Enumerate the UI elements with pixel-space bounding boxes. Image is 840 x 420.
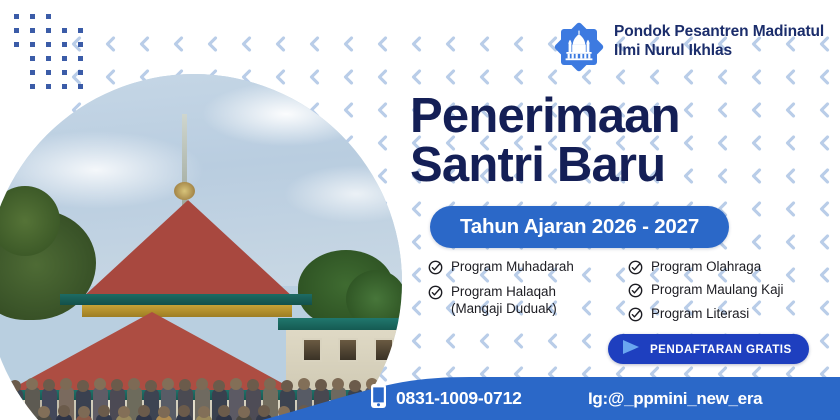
mosque-star-logo-svg bbox=[554, 22, 604, 72]
list-item: Program Halaqah (Mangaji Duduak) bbox=[428, 284, 620, 317]
list-item: Program Olahraga bbox=[628, 259, 838, 279]
program-list: Program Muhadarah Program Halaqah (Manga… bbox=[428, 259, 840, 326]
check-circle-icon bbox=[428, 285, 443, 304]
free-registration-label: PENDAFTARAN GRATIS bbox=[650, 343, 792, 356]
brand-header: Pondok Pesantren Madinatul Ilmi Nurul Ik… bbox=[554, 22, 840, 72]
instagram-handle[interactable]: Ig:@_ppmini_new_era bbox=[588, 389, 762, 409]
check-circle-icon bbox=[628, 307, 643, 326]
list-item-label: Program Literasi bbox=[651, 306, 749, 322]
page-title: Penerimaan Santri Baru bbox=[410, 92, 830, 189]
academic-year-label: Tahun Ajaran 2026 - 2027 bbox=[460, 215, 699, 239]
list-item: Program Muhadarah bbox=[428, 259, 620, 279]
check-circle-icon bbox=[628, 260, 643, 279]
program-column-left: Program Muhadarah Program Halaqah (Manga… bbox=[428, 259, 620, 326]
academic-year-badge: Tahun Ajaran 2026 - 2027 bbox=[430, 206, 729, 248]
list-item-label: Program Olahraga bbox=[651, 259, 761, 275]
program-column-right: Program Olahraga Program Maulang Kaji bbox=[628, 259, 838, 326]
list-item-label: Program Muhadarah bbox=[451, 259, 574, 275]
mosque-star-logo-icon bbox=[554, 22, 604, 72]
list-item-label: Program Halaqah (Mangaji Duduak) bbox=[451, 284, 557, 317]
play-arrow-icon bbox=[620, 338, 642, 361]
page-title-line2: Santri Baru bbox=[410, 141, 830, 190]
banner-content: Pondok Pesantren Madinatul Ilmi Nurul Ik… bbox=[408, 0, 840, 420]
list-item-label: Program Maulang Kaji bbox=[651, 282, 783, 298]
free-registration-button[interactable]: PENDAFTARAN GRATIS bbox=[608, 334, 809, 364]
list-item: Program Literasi bbox=[628, 306, 838, 326]
footer-contacts: 0831-1009-0712 Ig:@_ppmini_new_era bbox=[370, 377, 840, 420]
check-circle-icon bbox=[428, 260, 443, 279]
phone-number: 0831-1009-0712 bbox=[396, 388, 522, 409]
page-title-line1: Penerimaan bbox=[410, 92, 830, 141]
psb-promo-banner: Pondok Pesantren Madinatul Ilmi Nurul Ik… bbox=[0, 0, 840, 420]
mobile-phone-icon bbox=[370, 383, 387, 414]
list-item: Program Maulang Kaji bbox=[628, 282, 838, 302]
phone-contact[interactable]: 0831-1009-0712 bbox=[370, 383, 562, 414]
brand-name: Pondok Pesantren Madinatul Ilmi Nurul Ik… bbox=[614, 22, 840, 61]
check-circle-icon bbox=[628, 283, 643, 302]
